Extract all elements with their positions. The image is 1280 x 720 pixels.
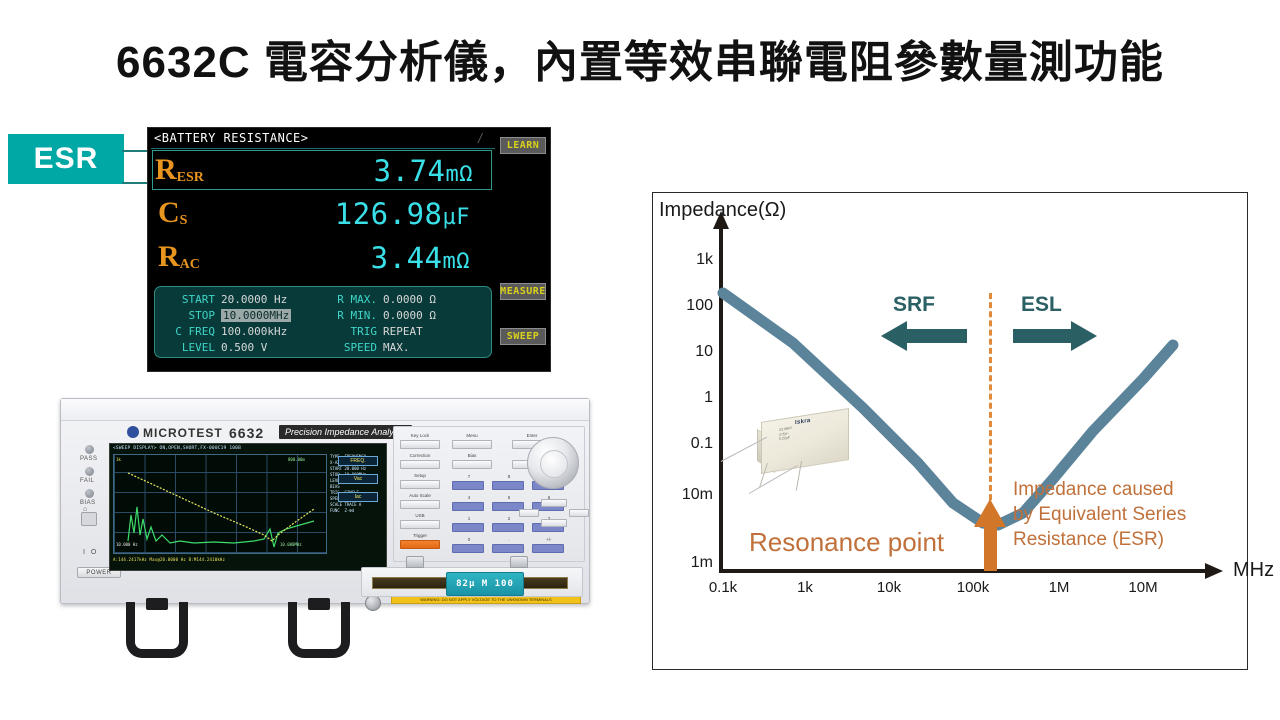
display-header-mark: /	[477, 131, 484, 145]
fail-led-icon	[85, 467, 94, 476]
instrument-foot-cap-right	[308, 598, 330, 610]
key-menu[interactable]	[452, 440, 492, 449]
srf-arrow-head-icon	[881, 321, 907, 351]
numkey-label-4: 4	[452, 495, 486, 500]
reading-row-rac: RAC 3.44mΩ	[156, 238, 488, 278]
capacitor-printed-spec: X2 MKP 275V~ 0.22µF	[779, 426, 792, 442]
arrow-right-key[interactable]	[569, 509, 589, 517]
numkey-label-1: 1	[452, 516, 486, 521]
param-row-stop: STOP10.0000MHz	[163, 308, 323, 324]
numkey-label-5: 5	[492, 495, 526, 500]
key-bias[interactable]	[452, 460, 492, 469]
display-parameter-panel: START20.0000 Hz STOP10.0000MHz C FREQ100…	[154, 286, 492, 358]
key-label-correction: Correction	[398, 453, 442, 458]
esr-note-line-1: Impedance caused	[1013, 477, 1243, 502]
chart-impedance-curve	[653, 193, 1249, 671]
resonance-point-label: Resonance point	[749, 527, 944, 558]
esr-impedance-note: Impedance caused by Equivalent Series Re…	[1013, 477, 1243, 552]
pass-led-icon	[85, 445, 94, 454]
lcd-softkey-freq[interactable]: FREQ.	[338, 456, 378, 466]
softkey-learn[interactable]: LEARN	[500, 137, 546, 154]
usb-port[interactable]	[81, 512, 97, 526]
lcd-trace-svg	[114, 455, 328, 555]
param-row-rmax: R MAX.0.0000 Ω	[331, 292, 491, 308]
param-row-speed: SPEEDMAX.	[331, 340, 491, 356]
instrument-top-strip	[61, 399, 589, 421]
parameter-column-left: START20.0000 Hz STOP10.0000MHz C FREQ100…	[163, 292, 323, 356]
resonance-arrow-head-icon	[974, 499, 1006, 527]
arrow-left-key[interactable]	[519, 509, 539, 517]
reading-label-esr: RESR	[155, 153, 204, 187]
fixture-post-left[interactable]	[406, 556, 424, 568]
reading-row-esr: RESR 3.74mΩ	[152, 150, 492, 190]
impedance-chart-panel: Impedance(Ω) MHz 1k 100 10 1 0.1 10m 1m …	[652, 192, 1248, 670]
param-row-trig: TRIGREPEAT	[331, 324, 491, 340]
numkey-0[interactable]	[452, 544, 484, 553]
numkey-4[interactable]	[452, 502, 484, 511]
instrument-foot-left	[126, 602, 188, 658]
numkey-8[interactable]	[492, 481, 524, 490]
srf-arrow-bar	[905, 329, 967, 343]
numkey-label-7: 7	[452, 474, 486, 479]
lcd-corner-top-right: 800.00m	[288, 457, 305, 462]
numkey-1[interactable]	[452, 523, 484, 532]
key-trigger[interactable]	[400, 540, 440, 549]
key-usb[interactable]	[400, 520, 440, 529]
instrument-chassis: MICROTEST 6632 Precision Impedance Analy…	[60, 398, 590, 604]
lcd-plot-grid	[113, 454, 327, 554]
dut-capacitor: 82µ M 100	[446, 572, 524, 596]
esl-arrow-bar	[1013, 329, 1075, 343]
instrument-photo: MICROTEST 6632 Precision Impedance Analy…	[60, 398, 590, 648]
lcd-corner-bottom-left: 10.000 Hz	[116, 542, 138, 547]
srf-label: SRF	[893, 293, 935, 317]
page-title: 6632C 電容分析儀，內置等效串聯電阻參數量測功能	[0, 26, 1280, 90]
brand-name: MICROTEST	[143, 426, 223, 440]
key-label-menu: Menu	[450, 433, 494, 438]
key-label-usb: USB	[398, 513, 442, 518]
lcd-status-line: <SWEEP DISPLAY> ON,OPEN,SHORT,FX-000C19 …	[113, 446, 241, 451]
arrow-up-key[interactable]	[541, 499, 567, 507]
lcd-corner-bottom-right: 10.000MHz	[280, 542, 302, 547]
key-auto-scale[interactable]	[400, 500, 440, 509]
lcd-softkey-iac[interactable]: Iac	[338, 492, 378, 502]
reading-label-rac: RAC	[158, 240, 200, 274]
lcd-softkey-vac[interactable]: Vac	[338, 474, 378, 484]
rotary-knob-inner	[540, 450, 568, 478]
softkey-measure[interactable]: MEASURE	[500, 283, 546, 300]
reading-value-esr: 3.74mΩ	[374, 154, 473, 188]
key-label-trigger: Trigger	[398, 533, 442, 538]
numkey-label-dot: .	[492, 537, 526, 542]
numkey-sign[interactable]	[532, 544, 564, 553]
param-row-level: LEVEL0.500 V	[163, 340, 323, 356]
test-fixture: 82µ M 100	[361, 567, 583, 597]
esl-label: ESL	[1021, 293, 1062, 317]
numkey-7[interactable]	[452, 481, 484, 490]
fixture-post-right[interactable]	[510, 556, 528, 568]
arrow-down-key[interactable]	[541, 519, 567, 527]
reading-label-cs: CS	[158, 196, 187, 230]
esr-note-line-3: Resistance (ESR)	[1013, 527, 1243, 552]
numkey-label-8: 8	[492, 474, 526, 479]
lcd-marker-line: A:144.2417kHz Max@20.0000 Hz B:M144.2410…	[113, 557, 225, 562]
param-row-cfreq: C FREQ100.000kHz	[163, 324, 323, 340]
softkey-sweep[interactable]: SWEEP	[500, 328, 546, 345]
reading-value-rac: 3.44mΩ	[371, 241, 470, 275]
instrument-foot-right	[288, 602, 350, 658]
instrument-foot-cap-left	[146, 598, 168, 610]
parameter-column-right: R MAX.0.0000 Ω R MIN.0.0000 Ω TRIGREPEAT…	[331, 292, 491, 356]
display-header-title: <BATTERY RESISTANCE>	[154, 131, 309, 145]
key-correction[interactable]	[400, 460, 440, 469]
reading-value-cs: 126.98µF	[335, 197, 470, 231]
instrument-lcd: <SWEEP DISPLAY> ON,OPEN,SHORT,FX-000C19 …	[109, 443, 387, 571]
brand-logo-icon	[127, 426, 139, 438]
key-key-lock[interactable]	[400, 440, 440, 449]
lcd-settings-list: TYPE FREQUENCY X-AXIS LOG START 20.000 H…	[330, 454, 386, 554]
esr-badge: ESR	[8, 134, 124, 184]
key-label-bias: Bias	[450, 453, 494, 458]
esl-arrow-head-icon	[1071, 321, 1097, 351]
power-marks-label: I O	[83, 549, 98, 556]
numkey-label-0: 0	[452, 537, 486, 542]
lcd-corner-top-left: 1k	[116, 457, 121, 462]
resonance-arrow-bar	[984, 523, 997, 571]
model-number: 6632	[229, 425, 264, 441]
numkey-2[interactable]	[492, 523, 524, 532]
instrument-display-screenshot: <BATTERY RESISTANCE> / RESR 3.74mΩ CS 12…	[147, 127, 551, 372]
fail-led-label: FAIL	[80, 478, 94, 484]
key-label-key-lock: Key Lock	[398, 433, 442, 438]
esr-note-line-2: by Equivalent Series	[1013, 502, 1243, 527]
numkey-dot[interactable]	[492, 544, 524, 553]
key-label-auto-scale: Auto Scale	[398, 493, 442, 498]
param-row-rmin: R MIN.0.0000 Ω	[331, 308, 491, 324]
reading-row-cs: CS 126.98µF	[156, 194, 488, 234]
bnc-connector[interactable]	[365, 595, 381, 611]
key-setup[interactable]	[400, 480, 440, 489]
bias-led-icon	[85, 489, 94, 498]
rotary-knob[interactable]	[527, 437, 579, 489]
param-row-start: START20.0000 Hz	[163, 292, 323, 308]
display-header-rule	[151, 148, 495, 149]
key-label-setup: Setup	[398, 473, 442, 478]
pass-led-label: PASS	[80, 456, 98, 462]
numkey-label-sign: +/-	[532, 537, 566, 542]
capacitor-photo: Iskra X2 MKP 275V~ 0.22µF	[753, 405, 863, 479]
